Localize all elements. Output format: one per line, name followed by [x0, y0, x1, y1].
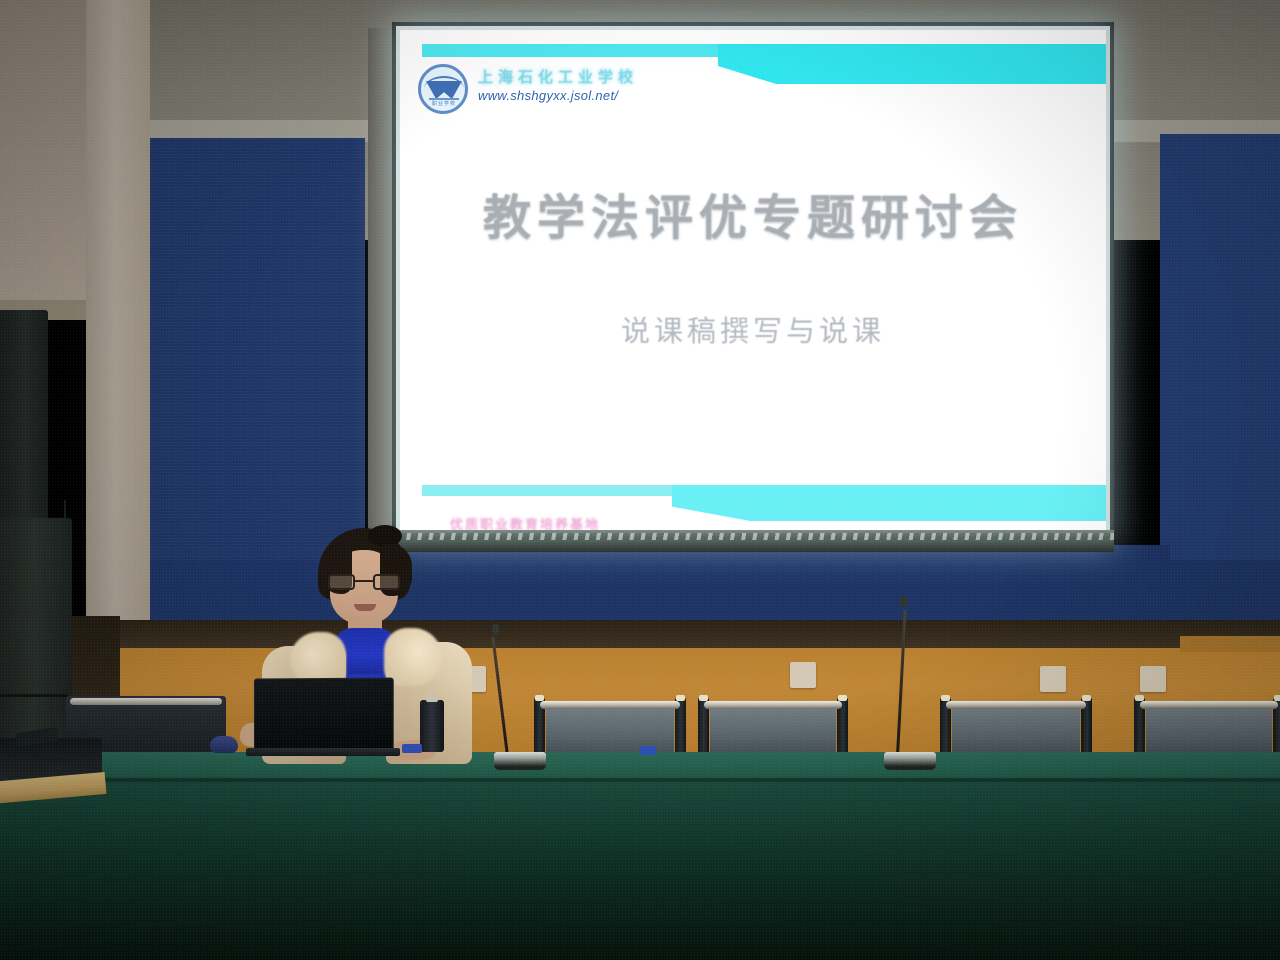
school-emblem-icon: 职业学校 — [418, 64, 468, 114]
chair-cap-right — [1274, 695, 1280, 701]
chair-3 — [940, 698, 1092, 760]
microphone-head — [900, 596, 907, 607]
presentation-slide: 职业学校 上海石化工业学校 www.shshgyxx.jsol.net/ 教学法… — [400, 30, 1106, 536]
laptop-base — [246, 748, 400, 756]
microphone-stem — [491, 637, 509, 756]
chair-cap-right — [838, 695, 847, 701]
wainscot-cap-right — [1180, 636, 1280, 652]
water-bottle-cap — [426, 694, 438, 702]
chair-cap-right — [676, 695, 685, 701]
slide-organization-url: www.shshgyxx.jsol.net/ — [478, 88, 618, 103]
microphone-base — [884, 752, 936, 770]
projection-screen: 职业学校 上海石化工业学校 www.shshgyxx.jsol.net/ 教学法… — [400, 30, 1106, 536]
desk-item-blue — [640, 746, 656, 755]
desk-item-blue — [402, 744, 422, 753]
microphone-right — [884, 592, 936, 770]
microphone-center — [494, 614, 546, 770]
wall-pillar — [86, 0, 150, 630]
photo-scene: 职业学校 上海石化工业学校 www.shshgyxx.jsol.net/ 教学法… — [0, 0, 1280, 960]
eyeglasses-lens-left — [328, 574, 355, 590]
chair-rail — [540, 701, 680, 709]
wall-plaque — [1040, 666, 1066, 692]
wall-plaque — [790, 662, 816, 688]
slide-bottom-band-thick — [672, 485, 1106, 521]
loudspeaker-upper — [0, 310, 48, 525]
eyeglasses-bridge — [355, 580, 373, 582]
chair-rail — [946, 701, 1086, 709]
chair-rail — [70, 698, 222, 705]
microphone-head — [492, 624, 499, 635]
slide-subtitle: 说课稿撰写与说课 — [400, 308, 1106, 350]
chair-1 — [534, 698, 686, 760]
head-table-skirt — [0, 782, 1280, 960]
presenter-mouth — [354, 604, 376, 611]
microphone-base — [494, 752, 546, 770]
chair-cap-right — [1082, 695, 1091, 701]
emblem-caption: 职业学校 — [429, 98, 459, 106]
slide-organization-name: 上海石化工业学校 — [478, 66, 638, 87]
eyeglasses-lens-right — [373, 574, 400, 590]
eyeglasses-icon — [328, 574, 400, 590]
wall-plaque — [1140, 666, 1166, 692]
chair-cap-left — [1135, 695, 1144, 701]
slide-title: 教学法评优专题研讨会 — [400, 178, 1106, 248]
chair-cap-left — [699, 695, 708, 701]
water-bottle — [420, 700, 444, 752]
chair-4 — [1134, 698, 1280, 760]
microphone-stem — [896, 610, 907, 756]
chair-rail — [704, 701, 842, 709]
chair-2 — [698, 698, 848, 760]
projection-screen-rollbar — [396, 530, 1114, 552]
chair-rail — [1140, 701, 1278, 709]
acoustic-panel-right — [1160, 134, 1280, 634]
chair-cap-left — [941, 695, 950, 701]
slide-top-band-thick — [718, 44, 1106, 84]
computer-mouse — [210, 736, 238, 753]
presenter-laptop — [254, 678, 394, 755]
